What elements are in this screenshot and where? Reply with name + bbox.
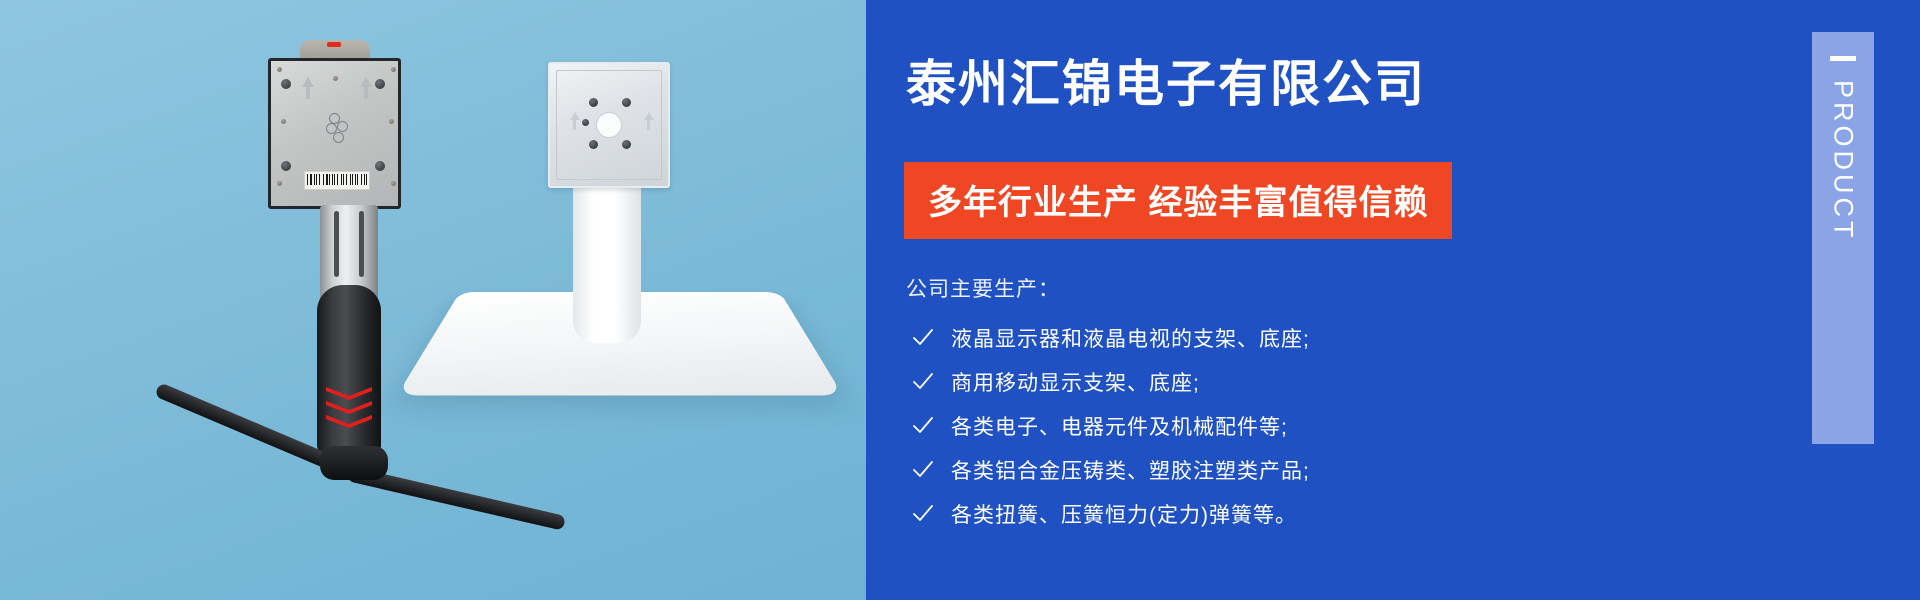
product-side-tab: PRODUCT: [1812, 32, 1874, 444]
vesa-center-hole: [597, 113, 621, 137]
plate-screw: [589, 98, 598, 107]
stand-white-vesa-plate: [548, 62, 670, 188]
plate-screw: [375, 161, 385, 171]
up-arrow-icon: [647, 119, 650, 130]
up-arrow-icon: [306, 86, 310, 99]
content-panel: 泰州汇锦电子有限公司 多年行业生产 经验丰富值得信赖 公司主要生产： 液晶显示器…: [866, 0, 1920, 600]
list-item-label: 液晶显示器和液晶电视的支架、底座;: [951, 323, 1310, 353]
plate-center-dot: [333, 76, 338, 81]
check-icon: [912, 459, 934, 481]
stand-black-vesa-plate: [268, 58, 401, 209]
check-icon: [912, 503, 934, 525]
plate-screw: [391, 181, 396, 186]
up-arrow-icon: [364, 86, 368, 99]
plate-screw: [589, 140, 598, 149]
plate-screw: [281, 119, 286, 124]
list-item-label: 各类电子、电器元件及机械配件等;: [951, 411, 1288, 441]
check-icon: [912, 371, 934, 393]
plate-screw: [622, 140, 631, 149]
list-item-label: 各类铝合金压铸类、塑胶注塑类产品;: [951, 455, 1310, 485]
company-headline: 泰州汇锦电子有限公司: [906, 44, 1426, 116]
list-item: 各类扭簧、压簧恒力(定力)弹簧等。: [912, 492, 1310, 536]
plate-screw: [582, 119, 589, 126]
list-item-label: 商用移动显示支架、底座;: [951, 367, 1200, 397]
list-item: 各类电子、电器元件及机械配件等;: [912, 404, 1310, 448]
product-list: 液晶显示器和液晶电视的支架、底座; 商用移动显示支架、底座; 各类电子、电器元件…: [912, 316, 1310, 536]
list-item: 商用移动显示支架、底座;: [912, 360, 1310, 404]
list-item-label: 各类扭簧、压簧恒力(定力)弹簧等。: [951, 499, 1297, 529]
certification-marks-icon: [326, 113, 354, 147]
plate-screw: [391, 67, 396, 72]
check-icon: [912, 415, 934, 437]
check-icon: [912, 327, 934, 349]
stand-leg-hub: [320, 446, 388, 480]
dash-icon: [1830, 56, 1856, 61]
intro-label: 公司主要生产：: [906, 273, 1060, 303]
list-item: 各类铝合金压铸类、塑胶注塑类产品;: [912, 448, 1310, 492]
barcode-label: [304, 171, 370, 190]
list-item: 液晶显示器和液晶电视的支架、底座;: [912, 316, 1310, 360]
product-photo-image: [0, 0, 866, 600]
promo-banner: 泰州汇锦电子有限公司 多年行业生产 经验丰富值得信赖 公司主要生产： 液晶显示器…: [0, 0, 1920, 600]
product-photo-panel: [0, 0, 866, 600]
stand-black-red-marker: [327, 42, 341, 47]
stand-white-column: [573, 185, 641, 343]
up-arrow-icon: [573, 119, 576, 130]
red-chevron-icon: [326, 387, 372, 400]
plate-screw: [281, 161, 291, 171]
plate-screw: [622, 98, 631, 107]
plate-screw: [281, 79, 291, 89]
plate-screw: [375, 79, 385, 89]
plate-screw: [389, 119, 394, 124]
tagline-badge: 多年行业生产 经验丰富值得信赖: [904, 162, 1452, 239]
product-side-tab-label: PRODUCT: [1828, 80, 1859, 242]
red-chevron-icon: [326, 401, 372, 414]
plate-screw: [277, 181, 282, 186]
plate-screw: [277, 67, 282, 72]
stand-black-tripod-legs: [140, 420, 570, 560]
